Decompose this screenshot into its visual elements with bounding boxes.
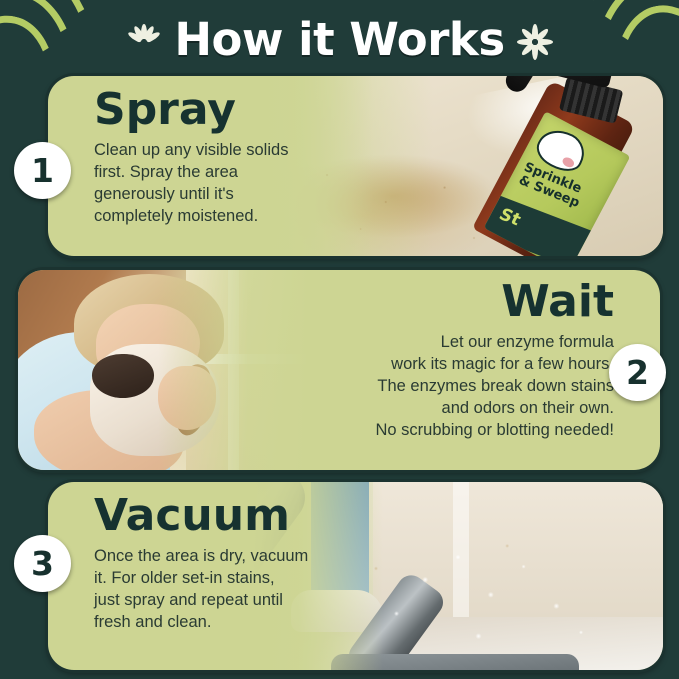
step-card-3: Vacuum Once the area is dry, vacuum it. … bbox=[48, 482, 663, 670]
dog-snout bbox=[92, 354, 154, 398]
step-1-body: Clean up any visible solids first. Spray… bbox=[94, 140, 288, 228]
step-1-heading: Spray bbox=[94, 88, 288, 132]
page-title-row: How it Works bbox=[0, 8, 679, 70]
step-3-number: 3 bbox=[31, 547, 54, 580]
step-card-1: Sprinkle & Sweep St Spray Clean up any v… bbox=[48, 76, 663, 256]
step-card-2: Wait Let our enzyme formula work its mag… bbox=[18, 270, 660, 470]
step-3-text: Vacuum Once the area is dry, vacuum it. … bbox=[48, 482, 326, 670]
how-it-works-infographic: How it Works Sprinkle & Sweep bbox=[0, 0, 679, 679]
step-2-number-badge: 2 bbox=[609, 344, 666, 401]
page-title: How it Works bbox=[174, 17, 504, 62]
photo-2-right-fade bbox=[158, 270, 308, 470]
step-3-number-badge: 3 bbox=[14, 535, 71, 592]
step-1-text: Spray Clean up any visible solids first.… bbox=[48, 76, 306, 256]
step-3-body: Once the area is dry, vacuum it. For old… bbox=[94, 546, 308, 634]
step-1-number: 1 bbox=[31, 154, 54, 187]
step-3-heading: Vacuum bbox=[94, 494, 308, 538]
step-2-number: 2 bbox=[626, 356, 649, 389]
splash-burst-right-icon bbox=[515, 17, 555, 61]
step-1-number-badge: 1 bbox=[14, 142, 71, 199]
bottle-band-text: St bbox=[495, 205, 524, 230]
step-2-body: Let our enzyme formula work its magic fo… bbox=[376, 332, 615, 442]
step-2-heading: Wait bbox=[376, 280, 615, 324]
step-2-photo-woman-and-dog bbox=[18, 270, 308, 470]
splash-burst-left-icon bbox=[124, 17, 164, 61]
